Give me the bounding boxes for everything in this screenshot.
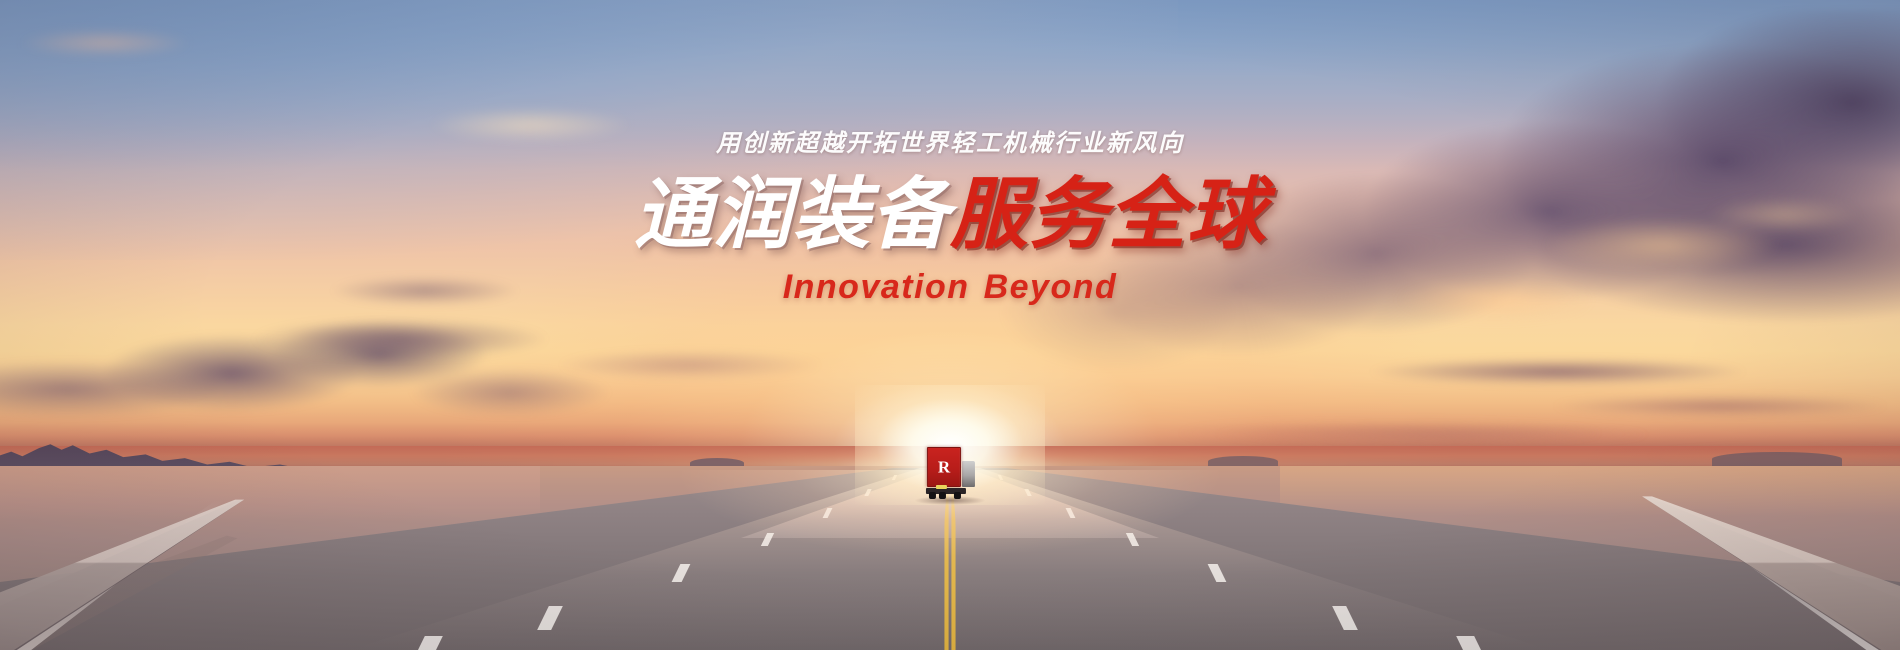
- hero-title: 通润装备服务全球: [0, 172, 1900, 256]
- truck-wheel-left: [929, 492, 936, 499]
- truck: R: [923, 447, 975, 501]
- hero-tagline: InnovationBeyond: [0, 270, 1900, 304]
- truck-cab: [962, 461, 975, 487]
- truck-logo-icon: R: [935, 457, 952, 478]
- hero-title-red-part: 服务全球: [950, 170, 1266, 258]
- hero-title-white-part: 通润装备: [634, 170, 950, 258]
- hero-subtitle: 用创新超越开拓世界轻工机械行业新风向: [0, 132, 1900, 156]
- truck-cargo-box: R: [927, 447, 961, 487]
- truck-license-plate: [936, 485, 947, 489]
- hero-text-block: 用创新超越开拓世界轻工机械行业新风向 通润装备服务全球 InnovationBe…: [0, 132, 1900, 304]
- island-c: [1712, 452, 1842, 466]
- hero-tagline-word-1: Innovation: [783, 268, 970, 306]
- hero-banner: R 用创新超越开拓世界轻工机械行业新风向 通润装备服务全球 Innovation…: [0, 0, 1900, 650]
- hero-tagline-word-2: Beyond: [984, 268, 1118, 306]
- truck-wheel-right: [954, 492, 961, 499]
- truck-wheel-mid: [939, 492, 946, 499]
